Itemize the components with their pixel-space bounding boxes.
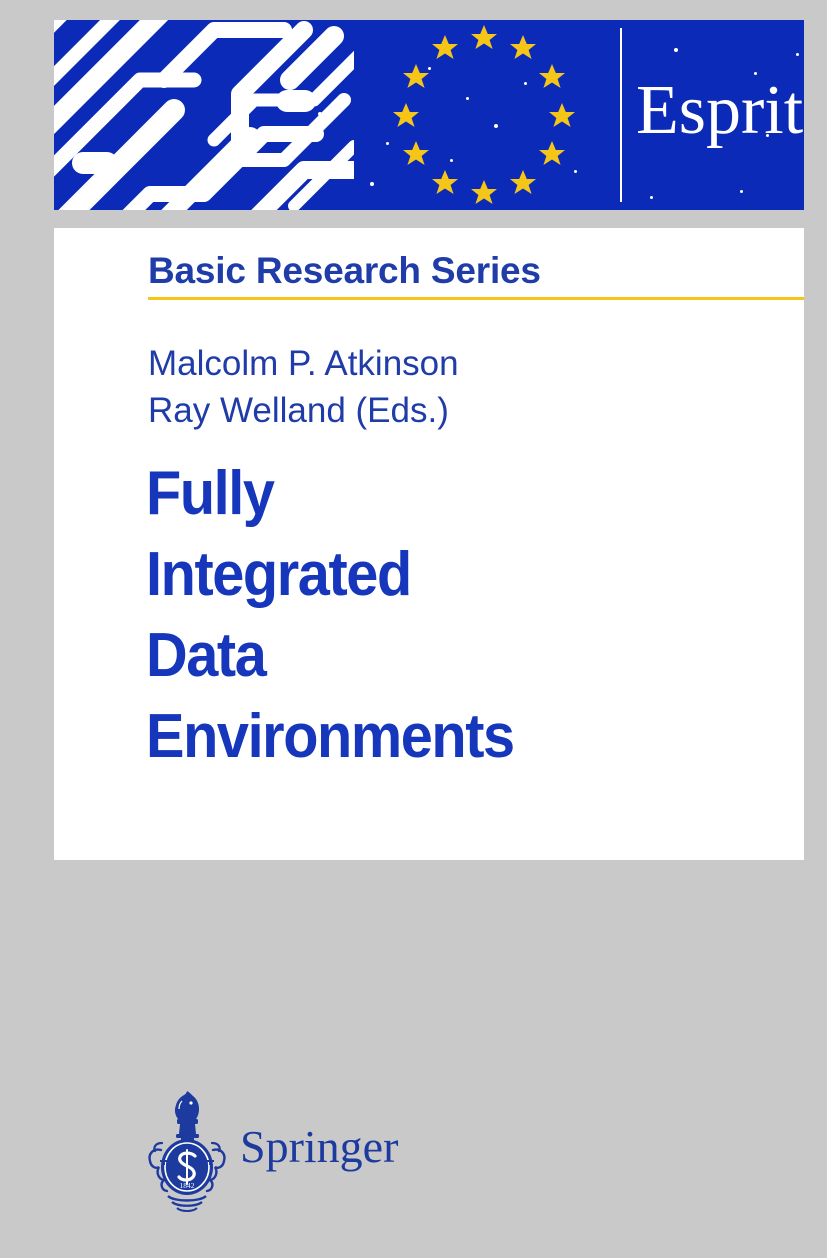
speck [386,142,389,145]
springer-knight-crest-icon: 1842 [146,1088,228,1218]
editor-name: Malcolm P. Atkinson [148,340,459,387]
banner-divider [620,28,622,202]
esprit-wordmark: Esprit [632,20,804,210]
book-cover: Esprit Basic Research Series Malcolm P. … [0,0,827,1258]
title-panel: Basic Research Series Malcolm P. Atkinso… [54,228,804,860]
speck [524,82,527,85]
esprit-wordmark-text: Esprit [632,76,803,154]
book-title-line: Integrated [146,534,514,615]
circuit-board-pattern-icon [54,20,354,210]
speck [574,170,577,173]
book-title: Fully Integrated Data Environments [146,453,541,777]
series-title: Basic Research Series [148,250,541,292]
speck [466,97,469,100]
series-divider-rule [148,297,804,300]
speck [494,124,498,128]
speck [370,182,374,186]
book-title-line: Environments [146,696,514,777]
publisher-name: Springer [240,1124,398,1170]
publisher-logo: 1842 Springer [146,1088,376,1218]
speck [318,112,322,116]
eu-flag-stars-icon [354,20,614,210]
editor-name: Ray Welland (Eds.) [148,387,459,434]
speck [428,67,431,70]
book-title-line: Data [146,615,514,696]
crest-year: 1842 [180,1181,195,1190]
esprit-banner: Esprit [54,20,804,210]
speck [450,159,453,162]
book-title-line: Fully [146,453,514,534]
editors-block: Malcolm P. Atkinson Ray Welland (Eds.) [148,340,459,434]
